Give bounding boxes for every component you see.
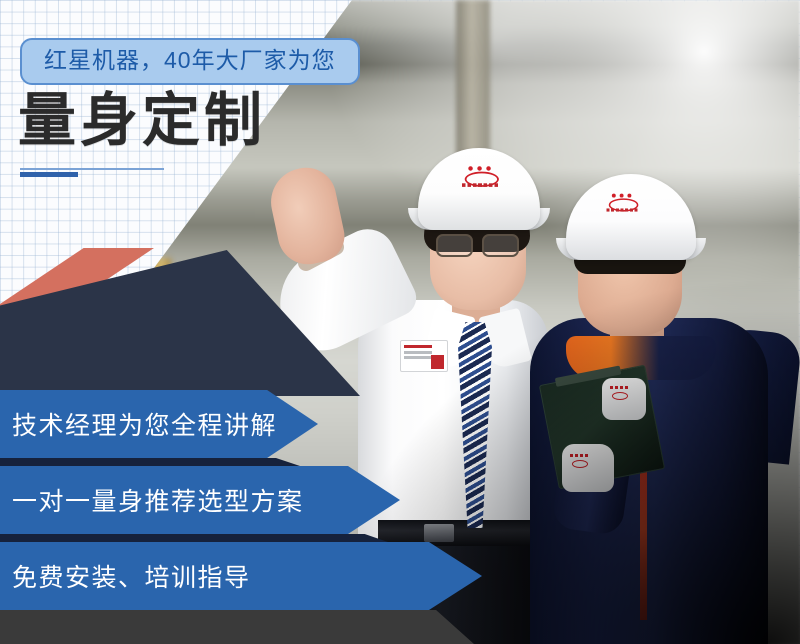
- feature-bar-2-label: 一对一量身推荐选型方案: [12, 482, 304, 518]
- feature-bar-3-label: 免费安装、培训指导: [12, 558, 251, 594]
- feature-bar-1: 技术经理为您全程讲解: [0, 390, 318, 458]
- headline-underline-thin: [20, 168, 164, 170]
- headline-underline-thick: [20, 172, 78, 177]
- feature-bar-divider-2: [0, 534, 388, 542]
- feature-bar-3: 免费安装、培训指导: [0, 542, 482, 610]
- bottom-dark-strip: [0, 610, 474, 644]
- feature-bar-divider-1: [0, 458, 300, 466]
- feature-bar-1-label: 技术经理为您全程讲解: [12, 406, 277, 442]
- tagline-badge: 红星机器，40年大厂家为您: [20, 38, 360, 85]
- page-title: 量身定制: [18, 92, 266, 150]
- promo-banner: 红星机器，40年大厂家为您 量身定制 技术经理为您全程讲解 一对一量身推荐选型方…: [0, 0, 800, 644]
- feature-bar-2: 一对一量身推荐选型方案: [0, 466, 400, 534]
